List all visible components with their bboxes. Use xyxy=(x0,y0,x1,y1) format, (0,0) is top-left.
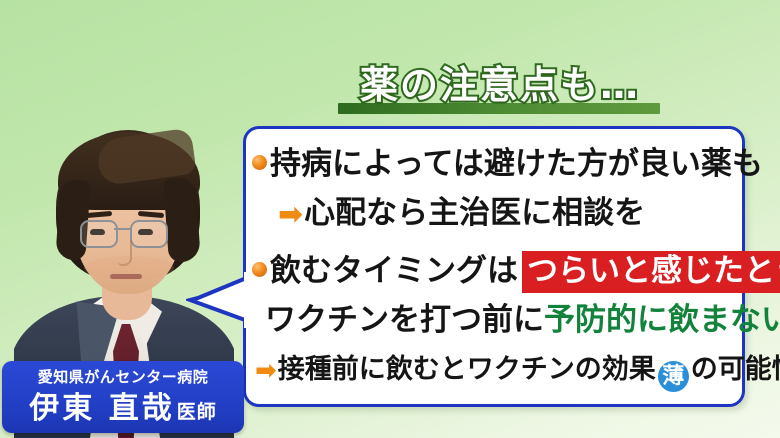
eyeglass-left-lens xyxy=(80,220,118,248)
line-2-text: 心配なら主治医に相談を xyxy=(304,195,645,231)
sideburn-right-shape xyxy=(163,177,201,263)
line-5-text-b: の可能性も xyxy=(691,354,780,385)
bullet-line-2: ➡心配なら主治医に相談を xyxy=(278,194,645,234)
orange-dot-icon xyxy=(252,262,267,277)
bullet-line-5: ➡接種前に飲むとワクチンの効果薄の可能性も xyxy=(255,352,780,392)
line-5-text-a: 接種前に飲むとワクチンの効果 xyxy=(278,354,656,385)
page-title: 薬の注意点も… xyxy=(330,62,670,108)
eyeglass-bridge xyxy=(114,228,130,230)
nose-shape xyxy=(118,240,132,266)
orange-dot-icon xyxy=(252,155,267,170)
line-1-text: 持病によっては避けた方が良い薬も xyxy=(270,146,763,182)
name-plate: 愛知県がんセンター病院 伊東 直哉医師 xyxy=(2,361,244,433)
line-3-red-highlight: つらいと感じたとき xyxy=(522,251,780,293)
doctor-name-label: 伊東 直哉 xyxy=(29,391,174,426)
line-3-text: 飲むタイミングは xyxy=(270,253,518,289)
bullet-line-4: ワクチンを打つ前に予防的に飲まない xyxy=(265,301,780,339)
orange-arrow-icon: ➡ xyxy=(255,353,277,389)
eyeglass-right-lens xyxy=(130,220,168,248)
line-4-green-highlight: 予防的に飲まない xyxy=(544,302,780,338)
speech-bubble-tail xyxy=(186,272,258,328)
tv-news-graphic: 薬の注意点も… 持病によっては避けた方が良い薬 xyxy=(0,0,780,438)
name-row: 伊東 直哉医師 xyxy=(2,390,244,432)
bullet-line-1: 持病によっては避けた方が良い薬も xyxy=(252,145,763,183)
bullet-line-3: 飲むタイミングはつらいと感じたとき xyxy=(252,252,780,290)
affiliation-label: 愛知県がんセンター病院 xyxy=(2,364,244,390)
line-4-text: ワクチンを打つ前に xyxy=(265,302,544,338)
blue-circle-badge: 薄 xyxy=(658,361,689,392)
mouth-shape xyxy=(110,274,142,279)
doctor-honorific-label: 医師 xyxy=(177,401,217,423)
orange-arrow-icon: ➡ xyxy=(278,196,303,234)
headline-group: 薬の注意点も… xyxy=(330,62,670,118)
